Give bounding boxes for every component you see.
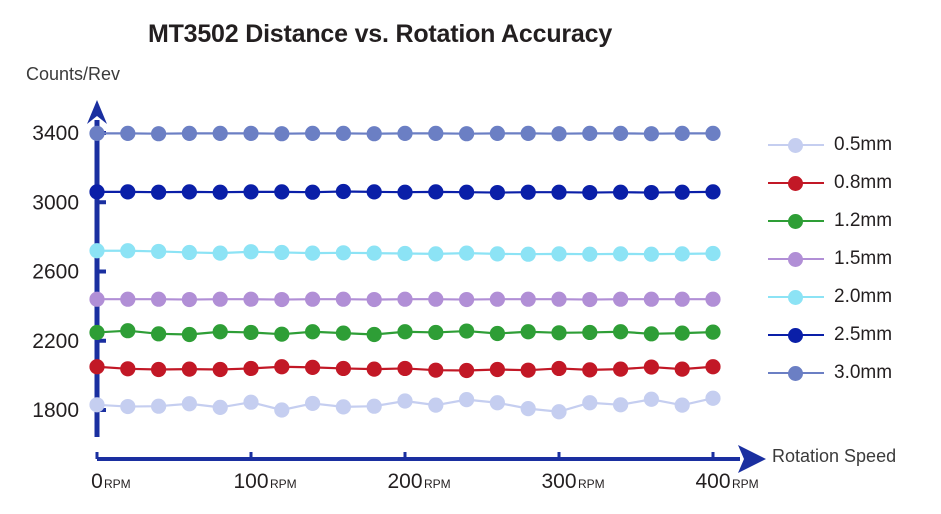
series-point [151,185,166,200]
series-point [151,292,166,307]
y-axis-tick-label: 3400 [32,122,79,145]
x-axis-tick-label: 200 [387,470,422,493]
series-point [120,184,135,199]
series-point [521,126,536,141]
x-axis-tick-unit: RPM [424,477,451,491]
series-point [675,326,690,341]
series-point [459,126,474,141]
legend-item-label: 0.5mm [834,134,892,156]
series-point [428,363,443,378]
legend-swatch [768,363,824,383]
series-point [644,292,659,307]
legend-item-label: 2.0mm [834,286,892,308]
series-point [459,246,474,261]
series-point [613,362,628,377]
series-point [274,184,289,199]
series-point [336,245,351,260]
series-point [705,359,720,374]
series-point [367,126,382,141]
series-point [305,185,320,200]
series-point [644,359,659,374]
series-point [397,324,412,339]
series-point [613,324,628,339]
series-point [336,292,351,307]
series-point [182,396,197,411]
chart-page: MT3502 Distance vs. Rotation Accuracy Co… [0,0,941,514]
x-axis-tick-unit: RPM [732,477,759,491]
series-point [490,362,505,377]
series-point [428,292,443,307]
series-point [182,126,197,141]
series-point [675,126,690,141]
series-point [367,362,382,377]
series-point [613,397,628,412]
series-point [521,247,536,262]
series-point [397,126,412,141]
y-axis-tick-label: 2600 [32,261,79,284]
x-axis-tick-label: 300 [541,470,576,493]
legend-marker-icon [788,138,803,153]
series-2-5mm [89,184,720,200]
series-point [213,324,228,339]
x-axis-tick-unit: RPM [578,477,605,491]
series-point [582,325,597,340]
series-point [490,246,505,261]
series-point [243,325,258,340]
legend-item-0-8mm[interactable]: 0.8mm [768,164,938,202]
series-2-0mm [89,243,720,262]
x-axis-tick-label: 400 [695,470,730,493]
series-point [336,361,351,376]
series-point [675,246,690,261]
legend-item-label: 1.2mm [834,210,892,232]
series-point [459,392,474,407]
series-point [120,361,135,376]
series-point [213,185,228,200]
series-point [274,359,289,374]
legend-swatch [768,211,824,231]
series-point [305,360,320,375]
series-point [305,292,320,307]
series-3-0mm [89,126,720,142]
series-point [428,126,443,141]
series-point [213,126,228,141]
series-point [274,126,289,141]
legend-item-2-0mm[interactable]: 2.0mm [768,278,938,316]
series-point [490,126,505,141]
series-0-5mm [89,391,720,420]
series-point [151,126,166,141]
series-point [89,325,104,340]
series-point [336,399,351,414]
y-axis-tick-label: 3000 [32,191,79,214]
legend-item-label: 2.5mm [834,324,892,346]
series-point [336,126,351,141]
series-point [459,292,474,307]
series-point [243,244,258,259]
series-point [151,362,166,377]
series-point [243,126,258,141]
series-point [305,396,320,411]
series-point [459,185,474,200]
series-point [613,246,628,261]
legend-item-label: 0.8mm [834,172,892,194]
chart-legend: 0.5mm0.8mm1.2mm1.5mm2.0mm2.5mm3.0mm [768,126,938,392]
series-point [367,246,382,261]
legend-item-1-5mm[interactable]: 1.5mm [768,240,938,278]
series-point [521,401,536,416]
series-point [490,185,505,200]
series-point [120,243,135,258]
series-point [151,399,166,414]
series-point [551,361,566,376]
series-point [644,326,659,341]
series-point [613,185,628,200]
series-point [274,292,289,307]
series-point [428,184,443,199]
series-point [551,185,566,200]
series-point [582,185,597,200]
series-point [490,395,505,410]
series-point [397,185,412,200]
x-axis-title: Rotation Speed [772,446,896,467]
x-axis-tick-label: 0 [91,470,103,493]
series-point [705,184,720,199]
series-point [89,184,104,199]
series-point [551,126,566,141]
series-point [397,393,412,408]
legend-item-1-2mm[interactable]: 1.2mm [768,202,938,240]
x-axis-arrow [738,445,766,473]
series-point [243,395,258,410]
legend-item-2-5mm[interactable]: 2.5mm [768,316,938,354]
series-point [521,324,536,339]
series-point [182,292,197,307]
legend-marker-icon [788,328,803,343]
legend-marker-icon [788,214,803,229]
series-point [582,362,597,377]
series-point [397,292,412,307]
series-point [675,185,690,200]
series-point [89,126,104,141]
x-axis-tick-unit: RPM [270,477,297,491]
series-point [305,126,320,141]
series-point [213,362,228,377]
series-point [521,185,536,200]
series-point [182,362,197,377]
series-point [459,363,474,378]
series-point [274,327,289,342]
series-point [213,400,228,415]
series-point [705,246,720,261]
legend-swatch [768,173,824,193]
series-point [675,362,690,377]
series-point [274,245,289,260]
legend-swatch [768,249,824,269]
series-point [120,399,135,414]
series-point [521,292,536,307]
series-point [613,292,628,307]
series-point [428,246,443,261]
series-point [182,184,197,199]
series-point [151,244,166,259]
x-axis-tick-label: 100 [233,470,268,493]
series-point [428,325,443,340]
series-point [89,359,104,374]
series-point [551,404,566,419]
series-point [705,391,720,406]
series-point [305,246,320,261]
legend-marker-icon [788,366,803,381]
series-point [459,323,474,338]
series-point [367,399,382,414]
series-point [336,326,351,341]
series-point [120,292,135,307]
series-point [644,185,659,200]
series-point [243,361,258,376]
series-point [89,243,104,258]
series-1-2mm [89,323,720,342]
series-point [213,246,228,261]
series-point [582,292,597,307]
series-point [397,361,412,376]
series-point [490,292,505,307]
series-point [551,246,566,261]
series-point [613,126,628,141]
series-point [336,184,351,199]
series-point [182,245,197,260]
series-point [644,392,659,407]
series-point [675,398,690,413]
series-point [521,363,536,378]
legend-marker-icon [788,290,803,305]
series-0-8mm [89,359,720,378]
series-point [243,292,258,307]
series-point [182,327,197,342]
series-point [367,327,382,342]
series-point [367,184,382,199]
series-point [705,324,720,339]
series-point [551,292,566,307]
series-1-5mm [89,292,720,308]
series-point [644,126,659,141]
legend-swatch [768,287,824,307]
series-point [120,323,135,338]
series-point [397,246,412,261]
legend-item-0-5mm[interactable]: 0.5mm [768,126,938,164]
legend-marker-icon [788,252,803,267]
series-point [490,326,505,341]
series-point [367,292,382,307]
series-point [120,126,135,141]
series-point [705,126,720,141]
series-point [644,247,659,262]
series-point [305,324,320,339]
legend-item-3-0mm[interactable]: 3.0mm [768,354,938,392]
legend-swatch [768,325,824,345]
series-point [89,292,104,307]
series-point [213,292,228,307]
series-point [89,397,104,412]
y-axis-tick-label: 2200 [32,330,79,353]
x-axis-tick-unit: RPM [104,477,131,491]
legend-item-label: 3.0mm [834,362,892,384]
series-point [705,292,720,307]
series-point [243,184,258,199]
series-point [274,402,289,417]
legend-marker-icon [788,176,803,191]
series-point [428,398,443,413]
series-point [582,247,597,262]
series-point [582,395,597,410]
legend-item-label: 1.5mm [834,248,892,270]
series-point [551,325,566,340]
legend-swatch [768,135,824,155]
series-point [151,326,166,341]
y-axis-tick-label: 1800 [32,399,79,422]
series-point [582,126,597,141]
series-point [675,292,690,307]
